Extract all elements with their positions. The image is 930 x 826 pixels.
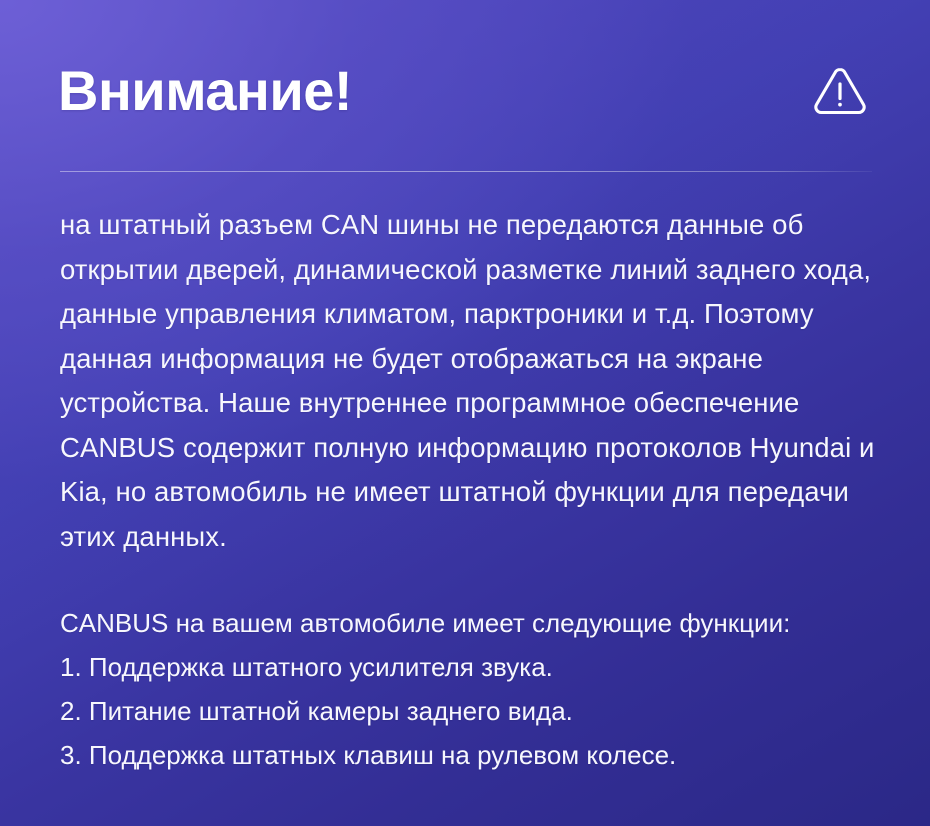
page-title: Внимание! [58, 62, 352, 121]
list-item-number: 1. [60, 652, 82, 682]
banner-content: на штатный разъем CAN шины не передаются… [60, 203, 878, 777]
warning-banner: Внимание! на штатный разъем CAN шины не … [0, 0, 930, 826]
list-item: 3. Поддержка штатных клавиш на рулевом к… [60, 733, 878, 777]
list-item: 1. Поддержка штатного усилителя звука. [60, 645, 878, 689]
functions-list: 1. Поддержка штатного усилителя звука. 2… [60, 645, 878, 777]
warning-paragraph: на штатный разъем CAN шины не передаются… [60, 203, 878, 559]
banner-header: Внимание! [58, 52, 874, 130]
header-divider [60, 171, 872, 172]
list-item-number: 2. [60, 696, 82, 726]
list-item: 2. Питание штатной камеры заднего вида. [60, 689, 878, 733]
functions-section: CANBUS на вашем автомобиле имеет следующ… [60, 601, 878, 777]
list-item-label: Поддержка штатного усилителя звука. [89, 652, 553, 682]
list-item-label: Питание штатной камеры заднего вида. [89, 696, 573, 726]
warning-triangle-icon [812, 63, 874, 119]
functions-intro: CANBUS на вашем автомобиле имеет следующ… [60, 601, 878, 645]
list-item-number: 3. [60, 740, 82, 770]
list-item-label: Поддержка штатных клавиш на рулевом коле… [89, 740, 676, 770]
